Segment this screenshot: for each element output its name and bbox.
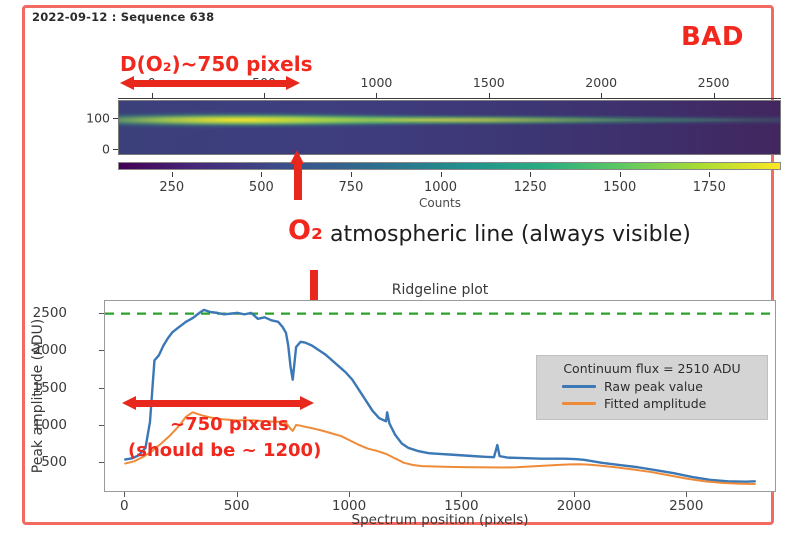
- y-tick: [99, 350, 104, 351]
- width-note-label: ~750 pixels: [170, 414, 289, 435]
- y-tick-label: 1000: [33, 417, 67, 433]
- x-tick-label: 0: [120, 498, 129, 514]
- colorbar-tick: [172, 172, 173, 177]
- x-tick: [237, 492, 238, 497]
- y-tick: [99, 425, 104, 426]
- colorbar-tick: [441, 172, 442, 177]
- top-axis-tick: [376, 93, 377, 98]
- counts-colorbar-axis: 2505007501000125015001750: [118, 172, 781, 173]
- legend-color-swatch: [562, 402, 596, 405]
- x-tick: [574, 492, 575, 497]
- x-tick-label: 1000: [332, 498, 366, 514]
- ridgeline-title: Ridgeline plot: [392, 282, 489, 298]
- slide-root: 2022-09-12 : Sequence 638 BAD 0500100015…: [0, 0, 800, 534]
- y-tick: [99, 313, 104, 314]
- d-o2-span-arrow: [120, 76, 300, 90]
- ridgeline-legend: Continuum flux = 2510 ADU Raw peak value…: [536, 355, 768, 420]
- top-axis-tick-label: 2000: [585, 75, 617, 90]
- spectrogram-panel: 05001000150020002500 0100 25050075010001…: [0, 0, 800, 220]
- x-tick: [461, 492, 462, 497]
- colorbar-tick: [620, 172, 621, 177]
- legend-color-swatch: [562, 385, 596, 388]
- y-tick-label: 500: [41, 454, 67, 470]
- colorbar-tick-label: 250: [159, 180, 184, 195]
- top-axis-tick: [714, 93, 715, 98]
- colorbar-tick-label: 1500: [603, 180, 636, 195]
- top-axis-tick-label: 2500: [698, 75, 730, 90]
- y-tick: [99, 462, 104, 463]
- spectrogram-y-tick-label: 100: [86, 111, 110, 126]
- y-tick-label: 2500: [33, 305, 67, 321]
- x-tick-label: 2500: [669, 498, 703, 514]
- spectrogram-y-tick: [113, 149, 118, 150]
- legend-item-label: Raw peak value: [604, 379, 703, 394]
- ridgeline-x-axis-label: Spectrum position (pixels): [352, 512, 529, 528]
- y-tick-label: 1500: [33, 380, 67, 396]
- top-axis-tick: [264, 93, 265, 98]
- top-axis-tick-label: 1500: [473, 75, 505, 90]
- spectrogram-image: [118, 100, 781, 155]
- spectrogram-y-tick-label: 0: [102, 141, 110, 156]
- x-tick-label: 500: [224, 498, 250, 514]
- d-o2-annotation-label: D(O₂)~750 pixels: [120, 52, 313, 76]
- colorbar-tick: [351, 172, 352, 177]
- legend-title: Continuum flux = 2510 ADU: [544, 361, 760, 376]
- x-tick-label: 2000: [557, 498, 591, 514]
- x-tick: [124, 492, 125, 497]
- colorbar-tick: [709, 172, 710, 177]
- top-axis-tick: [152, 93, 153, 98]
- o2-up-arrow: [290, 150, 305, 212]
- spectrogram-y-tick: [113, 118, 118, 119]
- top-axis-tick: [601, 93, 602, 98]
- o2-description-text: atmospheric line (always visible): [330, 222, 691, 247]
- counts-colorbar: [118, 162, 781, 170]
- colorbar-tick-label: 1750: [693, 180, 726, 195]
- colorbar-tick-label: 500: [249, 180, 274, 195]
- legend-entries: Raw peak valueFitted amplitude: [544, 379, 760, 411]
- colorbar-axis-label: Counts: [419, 196, 461, 210]
- x-tick: [349, 492, 350, 497]
- o2-symbol-label: O₂: [288, 215, 323, 246]
- colorbar-tick: [261, 172, 262, 177]
- y-tick-label: 2000: [33, 342, 67, 358]
- x-tick-label: 1500: [444, 498, 478, 514]
- width-span-arrow: [122, 396, 314, 410]
- spectrogram-top-axis: 05001000150020002500: [118, 98, 781, 99]
- colorbar-tick-label: 750: [339, 180, 364, 195]
- colorbar-tick: [530, 172, 531, 177]
- legend-item: Raw peak value: [562, 379, 760, 394]
- legend-item: Fitted amplitude: [562, 396, 760, 411]
- top-axis-tick-label: 1000: [361, 75, 393, 90]
- colorbar-tick-label: 1000: [424, 180, 457, 195]
- y-tick: [99, 388, 104, 389]
- expected-width-note-label: (should be ~ 1200): [128, 440, 321, 461]
- x-tick: [686, 492, 687, 497]
- top-axis-tick: [489, 93, 490, 98]
- colorbar-tick-label: 1250: [514, 180, 547, 195]
- legend-item-label: Fitted amplitude: [604, 396, 706, 411]
